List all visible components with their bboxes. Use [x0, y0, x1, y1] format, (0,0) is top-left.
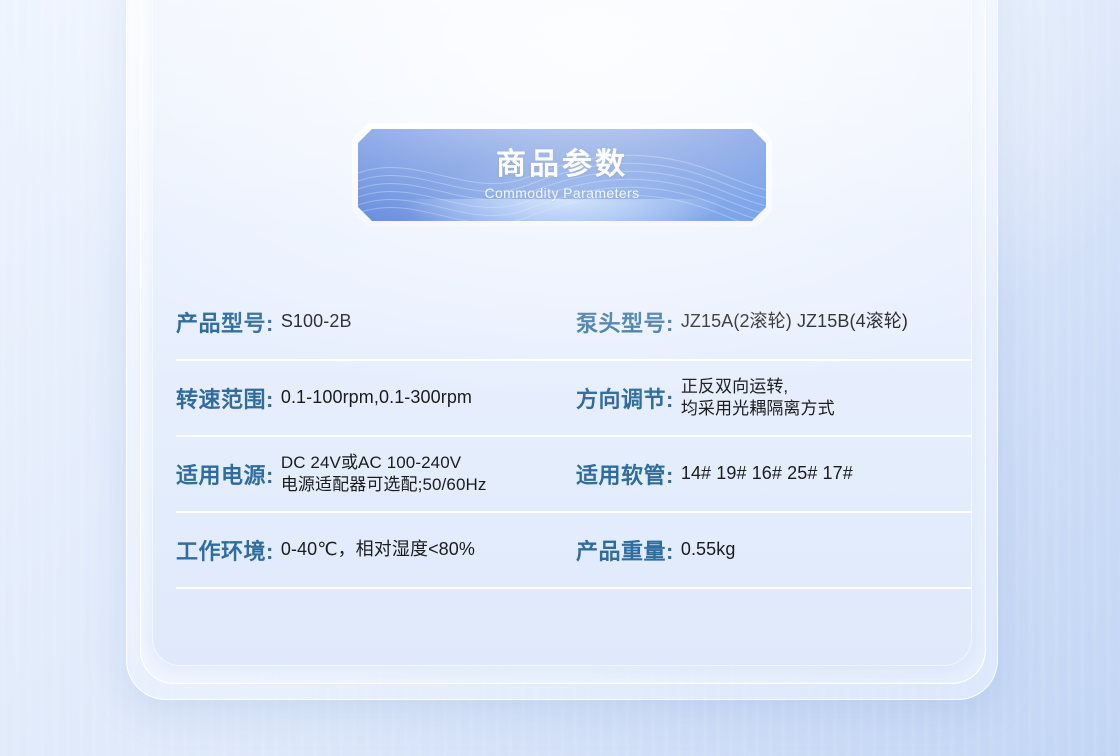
spec-label: 工作环境:: [176, 534, 274, 566]
spec-label: 产品重量:: [576, 534, 674, 566]
spec-item-power-supply: 适用电源: DC 24V或AC 100-240V 电源适配器可选配;50/60H…: [176, 437, 576, 511]
banner-text-group: 商品参数 Commodity Parameters: [358, 129, 766, 221]
spec-value: JZ15A(2滚轮) JZ15B(4滚轮): [681, 310, 908, 334]
spec-label: 适用软管:: [576, 458, 674, 490]
spec-item-product-weight: 产品重量: 0.55kg: [576, 513, 972, 587]
table-row: 转速范围: 0.1-100rpm,0.1-300rpm 方向调节: 正反双向运转…: [176, 361, 972, 437]
banner-body: 商品参数 Commodity Parameters: [358, 129, 766, 221]
table-row: 产品型号: S100-2B 泵头型号: JZ15A(2滚轮) JZ15B(4滚轮…: [176, 285, 972, 361]
spec-label: 方向调节:: [576, 382, 674, 414]
table-row: 工作环境: 0-40℃，相对湿度<80% 产品重量: 0.55kg: [176, 513, 972, 589]
spec-value: 0.55kg: [681, 538, 736, 562]
commodity-parameters-banner: 商品参数 Commodity Parameters: [352, 123, 772, 227]
spec-panel: 商品参数 Commodity Parameters 产品型号: S100-2B …: [152, 0, 972, 666]
spec-value: 正反双向运转, 均采用光耦隔离方式: [681, 376, 835, 421]
spec-value: 0-40℃，相对湿度<80%: [281, 538, 475, 562]
spec-value-line-2: 电源适配器可选配;50/60Hz: [281, 474, 487, 496]
spec-item-direction-control: 方向调节: 正反双向运转, 均采用光耦隔离方式: [576, 361, 972, 435]
banner-title-en: Commodity Parameters: [484, 185, 639, 201]
table-row: 适用电源: DC 24V或AC 100-240V 电源适配器可选配;50/60H…: [176, 437, 972, 513]
spec-value-line-1: 正反双向运转,: [681, 376, 835, 398]
spec-item-applicable-hose: 适用软管: 14# 19# 16# 25# 17#: [576, 437, 972, 511]
page-canvas: 商品参数 Commodity Parameters 产品型号: S100-2B …: [0, 0, 1120, 756]
spec-label: 泵头型号:: [576, 306, 674, 338]
spec-item-speed-range: 转速范围: 0.1-100rpm,0.1-300rpm: [176, 361, 576, 435]
spec-value: DC 24V或AC 100-240V 电源适配器可选配;50/60Hz: [281, 452, 487, 497]
spec-value: 0.1-100rpm,0.1-300rpm: [281, 386, 472, 410]
spec-value-line-2: 均采用光耦隔离方式: [681, 398, 835, 420]
spec-label: 适用电源:: [176, 458, 274, 490]
spec-value: S100-2B: [281, 310, 352, 334]
spec-value: 14# 19# 16# 25# 17#: [681, 462, 853, 486]
spec-item-working-environment: 工作环境: 0-40℃，相对湿度<80%: [176, 513, 576, 587]
specification-table: 产品型号: S100-2B 泵头型号: JZ15A(2滚轮) JZ15B(4滚轮…: [176, 285, 972, 589]
spec-label: 产品型号:: [176, 306, 274, 338]
spec-item-product-model: 产品型号: S100-2B: [176, 285, 576, 359]
spec-label: 转速范围:: [176, 382, 274, 414]
banner-title-cn: 商品参数: [496, 149, 628, 181]
spec-value-line-1: DC 24V或AC 100-240V: [281, 452, 487, 474]
spec-item-pump-head-model: 泵头型号: JZ15A(2滚轮) JZ15B(4滚轮): [576, 285, 972, 359]
